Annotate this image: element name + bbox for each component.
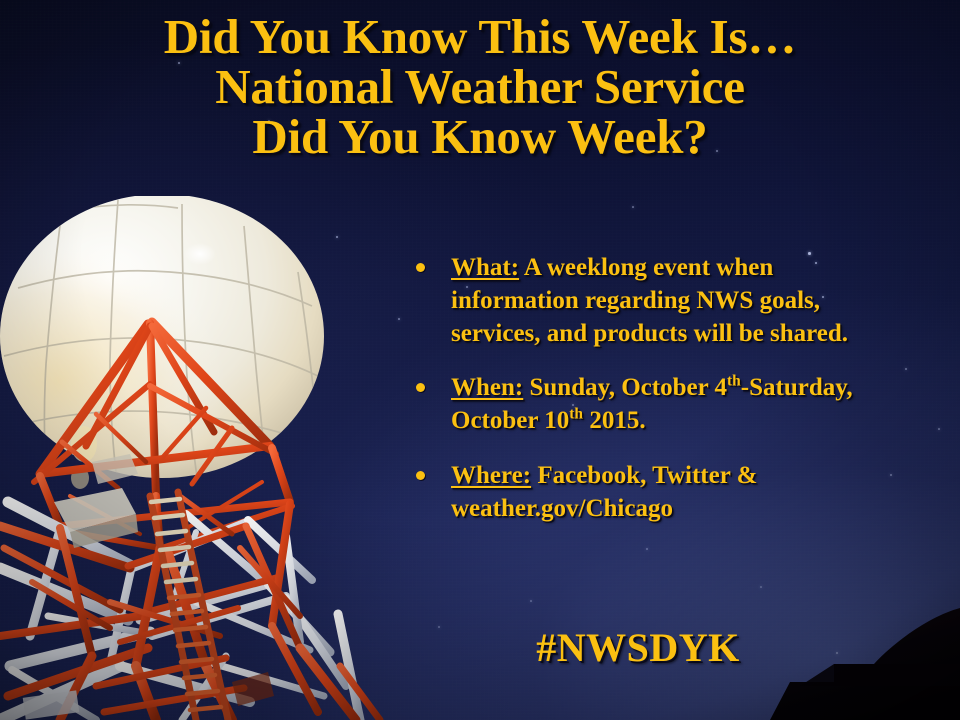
bullet-when-body-c: 2015. bbox=[583, 407, 646, 434]
list-item: Where: Facebook, Twitter & weather.gov/C… bbox=[408, 460, 868, 526]
bullet-dot-icon bbox=[416, 471, 425, 480]
bullet-list: What: A weeklong event when information … bbox=[408, 252, 868, 547]
bullet-what-label: What: bbox=[451, 254, 519, 281]
bullet-where: Where: Facebook, Twitter & weather.gov/C… bbox=[451, 460, 868, 526]
slide-canvas: Did You Know This Week Is… National Weat… bbox=[0, 0, 960, 720]
bullet-when-sup-a: th bbox=[727, 373, 741, 390]
bullet-where-label: Where: bbox=[451, 462, 531, 489]
list-item: When: Sunday, October 4th-Saturday, Octo… bbox=[408, 372, 868, 438]
radar-tower-image bbox=[0, 196, 400, 720]
bullet-when-sup-b: th bbox=[569, 406, 583, 423]
list-item: What: A weeklong event when information … bbox=[408, 252, 868, 350]
bullet-what: What: A weeklong event when information … bbox=[451, 252, 868, 350]
bullet-when-body-a: Sunday, October 4 bbox=[523, 374, 727, 401]
bullet-when-label: When: bbox=[451, 374, 523, 401]
bullet-dot-icon bbox=[416, 383, 425, 392]
bullet-dot-icon bbox=[416, 263, 425, 272]
hashtag: #NWSDYK bbox=[408, 624, 868, 671]
bullet-when: When: Sunday, October 4th-Saturday, Octo… bbox=[451, 372, 868, 438]
